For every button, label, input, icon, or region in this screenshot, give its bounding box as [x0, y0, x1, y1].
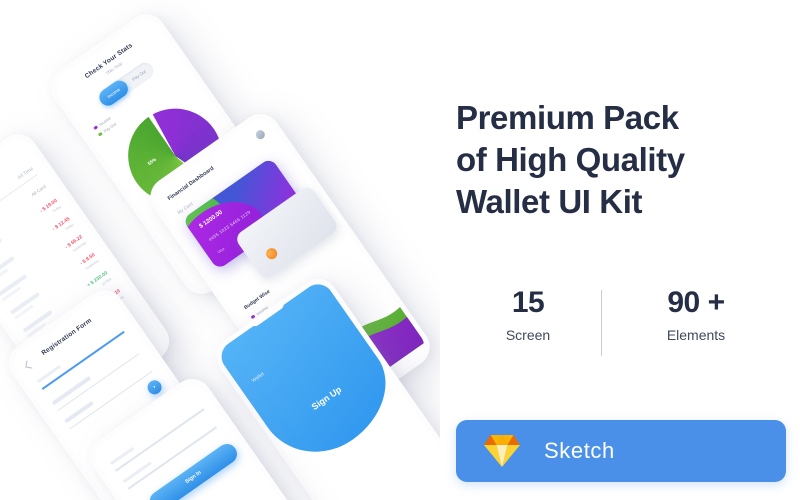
wallet-title: Financial Dashboard: [167, 166, 216, 202]
signin-button[interactable]: Sign In: [146, 440, 241, 500]
sketch-banner[interactable]: Sketch: [456, 420, 786, 482]
legend-dot-payout: [98, 132, 103, 137]
stat-screens: 15 Screen: [468, 288, 588, 343]
stat-screens-value: 15: [468, 288, 588, 318]
marketing-panel: Premium Pack of High Quality Wallet UI K…: [440, 0, 800, 500]
sketch-diamond-icon: [482, 432, 522, 470]
field-label: [37, 365, 62, 384]
stat-screens-caption: Screen: [468, 327, 588, 343]
field-label: [110, 447, 135, 466]
history-subtitle: All Card: [31, 184, 47, 197]
stats-pie-legend: Income Pay Out: [93, 115, 119, 140]
legend-dot-income: [93, 125, 98, 130]
poster-stage: Check Your Stats This Year Income Pay Ou…: [0, 0, 800, 500]
sketch-label: Sketch: [544, 438, 615, 464]
stats-row: 15 Screen 90 + Elements: [456, 288, 786, 363]
headline-line-3: Wallet UI Kit: [456, 181, 786, 223]
stat-elements: 90 + Elements: [616, 288, 776, 343]
stat-elements-value: 90 +: [616, 288, 776, 318]
card-chip-icon: [264, 246, 279, 261]
mockup-collage: Check Your Stats This Year Income Pay Ou…: [0, 0, 440, 500]
stats-divider: [601, 290, 602, 356]
headline-line-1: Premium Pack: [456, 97, 786, 139]
page-title: Premium Pack of High Quality Wallet UI K…: [456, 97, 786, 223]
stat-elements-caption: Elements: [616, 327, 776, 343]
next-button[interactable]: ›: [145, 378, 164, 397]
pie-label-a: 55%: [147, 157, 157, 166]
row-name: [0, 238, 2, 261]
headline-line-2: of High Quality: [456, 139, 786, 181]
user-avatar-icon[interactable]: [254, 128, 267, 141]
